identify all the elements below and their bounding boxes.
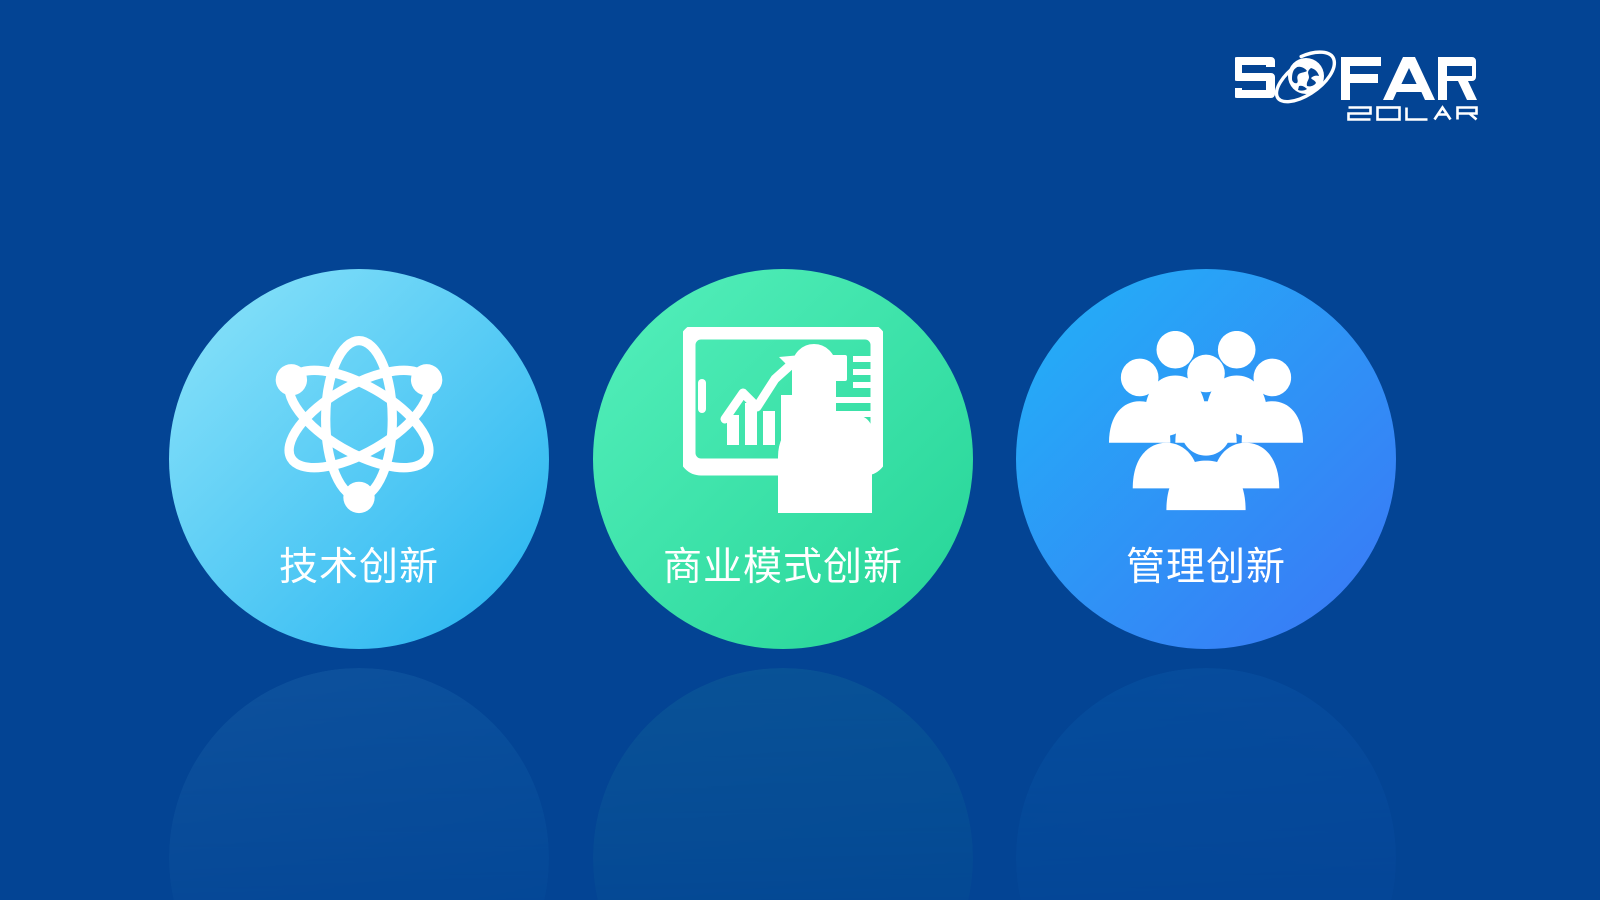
atom-icon bbox=[261, 321, 457, 517]
globe-orbit-icon bbox=[1269, 48, 1341, 104]
card-label-management-innovation: 管理创新 bbox=[1016, 546, 1396, 590]
card-circle-management-innovation: 管理创新 bbox=[1016, 269, 1396, 649]
innovation-cards: 技术创新 bbox=[0, 269, 1600, 649]
card-circle-technology-innovation: 技术创新 bbox=[169, 269, 549, 649]
people-group-icon bbox=[1107, 331, 1305, 511]
card-circle-business-model-innovation: 商业模式创新 bbox=[593, 269, 973, 649]
card-label-technology-innovation: 技术创新 bbox=[169, 546, 549, 590]
reflection-management-innovation bbox=[1016, 668, 1396, 900]
slide-canvas: 技术创新 bbox=[0, 0, 1600, 900]
card-technology-innovation[interactable]: 技术创新 bbox=[169, 269, 549, 649]
tablet-chart-touch-icon bbox=[683, 327, 883, 513]
sofar-solar-logo bbox=[1235, 48, 1480, 126]
card-business-model-innovation[interactable]: 商业模式创新 bbox=[593, 269, 973, 649]
card-management-innovation[interactable]: 管理创新 bbox=[1016, 269, 1396, 649]
reflection-business-model-innovation bbox=[593, 668, 973, 900]
card-label-business-model-innovation: 商业模式创新 bbox=[593, 546, 973, 590]
circle-reflections bbox=[0, 668, 1600, 900]
reflection-technology-innovation bbox=[169, 668, 549, 900]
